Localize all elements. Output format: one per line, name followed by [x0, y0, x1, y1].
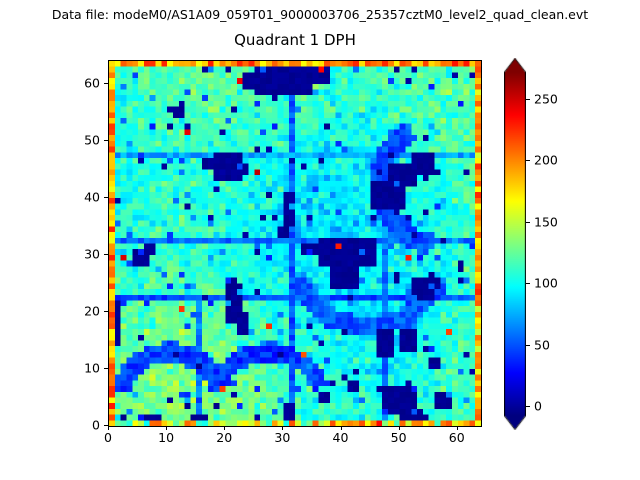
- y-tick-mark: [104, 368, 108, 369]
- y-tick-label: 50: [62, 132, 100, 147]
- matplotlib-figure: Data file: modeM0/AS1A09_059T01_90000037…: [0, 0, 640, 480]
- x-tick-label: 30: [274, 430, 290, 445]
- colorbar-tick-label: 250: [534, 92, 558, 107]
- colorbar-gradient: [504, 58, 526, 430]
- x-tick-label: 20: [216, 430, 232, 445]
- colorbar-tick-mark: [526, 160, 530, 161]
- y-tick-label: 20: [62, 303, 100, 318]
- colorbar-tick-mark: [526, 283, 530, 284]
- y-tick-label: 30: [62, 246, 100, 261]
- x-tick-mark: [341, 426, 342, 430]
- colorbar-tick-label: 150: [534, 214, 558, 229]
- plot-title: Quadrant 1 DPH: [0, 31, 590, 49]
- y-tick-label: 0: [62, 418, 100, 433]
- x-tick-mark: [166, 426, 167, 430]
- colorbar[interactable]: [504, 58, 526, 430]
- colorbar-tick-mark: [526, 99, 530, 100]
- colorbar-tick-mark: [526, 406, 530, 407]
- y-tick-label: 60: [62, 75, 100, 90]
- x-tick-mark: [457, 426, 458, 430]
- x-tick-label: 0: [104, 430, 112, 445]
- colorbar-tick-label: 200: [534, 153, 558, 168]
- colorbar-tick-label: 100: [534, 276, 558, 291]
- y-tick-mark: [104, 83, 108, 84]
- y-tick-label: 10: [62, 360, 100, 375]
- x-tick-mark: [399, 426, 400, 430]
- x-tick-label: 40: [333, 430, 349, 445]
- x-tick-mark: [108, 426, 109, 430]
- data-file-suptitle: Data file: modeM0/AS1A09_059T01_90000037…: [0, 7, 640, 22]
- x-tick-label: 50: [391, 430, 407, 445]
- colorbar-tick-mark: [526, 345, 530, 346]
- colorbar-tick-label: 0: [534, 399, 542, 414]
- y-tick-label: 40: [62, 189, 100, 204]
- x-tick-label: 10: [158, 430, 174, 445]
- y-tick-mark: [104, 254, 108, 255]
- y-tick-mark: [104, 140, 108, 141]
- colorbar-tick-mark: [526, 222, 530, 223]
- y-tick-mark: [104, 197, 108, 198]
- colorbar-tick-label: 50: [534, 337, 550, 352]
- x-tick-mark: [282, 426, 283, 430]
- dph-heatmap-canvas[interactable]: [109, 61, 481, 426]
- dph-image-axes[interactable]: [108, 60, 482, 427]
- x-tick-label: 60: [449, 430, 465, 445]
- x-tick-mark: [224, 426, 225, 430]
- y-tick-mark: [104, 425, 108, 426]
- y-tick-mark: [104, 311, 108, 312]
